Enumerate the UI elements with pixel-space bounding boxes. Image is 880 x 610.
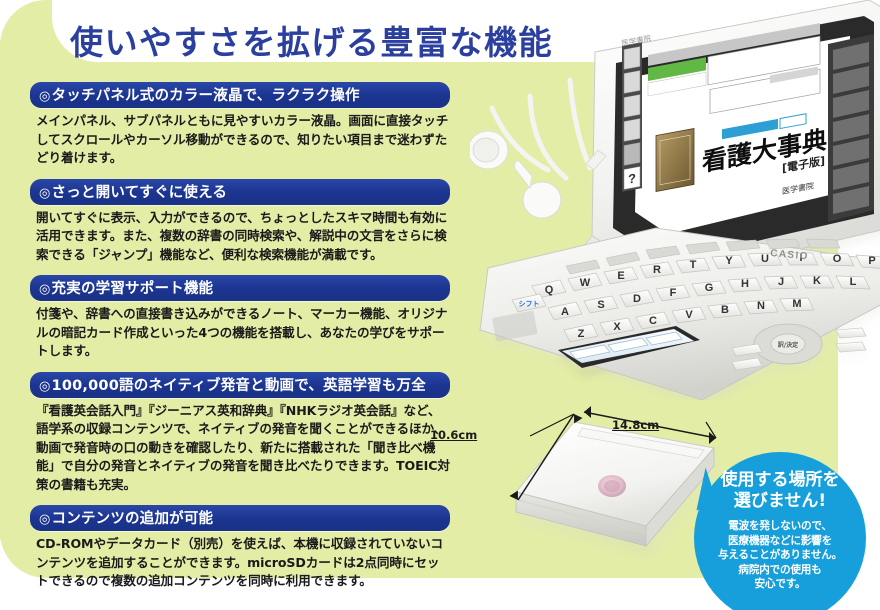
feature-heading-text: タッチパネル式のカラー液晶で、ラクラク操作 bbox=[52, 88, 360, 104]
feature-heading-text: 100,000語のネイティブ発音と動画で、英語学習も万全 bbox=[52, 378, 426, 394]
balloon-body: 電波を発しないので、 医療機器などに影響を 与えることがありません。 病院内での… bbox=[694, 519, 866, 591]
bullet-icon: ◎ bbox=[39, 282, 51, 297]
feature-heading-text: さっと開いてすぐに使える bbox=[52, 185, 228, 201]
feature-body: メインパネル、サブパネルともに見やすいカラー液晶。画面に直接タッチしてスクロール… bbox=[36, 112, 450, 168]
balloon-title: 使用する場所を 選びません! bbox=[694, 470, 866, 511]
dimension-label-depth: 10.6cm bbox=[430, 428, 477, 442]
feature-heading: ◎充実の学習サポート機能 bbox=[30, 275, 450, 301]
page-title: 使いやすさを拡げる豊富な機能 bbox=[70, 16, 553, 64]
feature-item: ◎コンテンツの追加が可能 CD-ROMやデータカード（別売）を使えば、本機に収録… bbox=[30, 505, 450, 591]
feature-body: CD-ROMやデータカード（別売）を使えば、本機に収録されていないコンテンツを追… bbox=[36, 535, 450, 591]
balloon-title-line1: 使用する場所を bbox=[694, 470, 866, 491]
feature-heading-text: 充実の学習サポート機能 bbox=[52, 281, 214, 297]
svg-text:L: L bbox=[850, 276, 857, 288]
feature-item: ◎さっと開いてすぐに使える 開いてすぐに表示、入力ができるので、ちょっとしたスキ… bbox=[30, 179, 450, 265]
balloon-body-line2: 医療機器などに影響を bbox=[694, 534, 866, 548]
bullet-icon: ◎ bbox=[39, 186, 51, 201]
balloon-callout: 使用する場所を 選びません! 電波を発しないので、 医療機器などに影響を 与える… bbox=[694, 452, 866, 610]
bullet-icon: ◎ bbox=[39, 89, 51, 104]
feature-heading: ◎タッチパネル式のカラー液晶で、ラクラク操作 bbox=[30, 82, 450, 108]
balloon-body-line5: 安心です。 bbox=[694, 577, 866, 591]
feature-heading-text: コンテンツの追加が可能 bbox=[52, 511, 214, 527]
feature-heading: ◎コンテンツの追加が可能 bbox=[30, 505, 450, 531]
svg-text:P: P bbox=[868, 255, 875, 267]
feature-item: ◎充実の学習サポート機能 付箋や、辞書への直接書き込みができるノート、マーカー機… bbox=[30, 275, 450, 361]
feature-heading: ◎さっと開いてすぐに使える bbox=[30, 179, 450, 205]
balloon-body-line1: 電波を発しないので、 bbox=[694, 519, 866, 533]
balloon-body-line3: 与えることがありません。 bbox=[694, 548, 866, 562]
feature-item: ◎100,000語のネイティブ発音と動画で、英語学習も万全 『看護英会話入門』『… bbox=[30, 372, 450, 495]
balloon-title-line2: 選びません! bbox=[694, 491, 866, 512]
feature-body: 開いてすぐに表示、入力ができるので、ちょっとしたスキマ時間も有効に活用できます。… bbox=[36, 209, 450, 265]
bullet-icon: ◎ bbox=[39, 512, 51, 527]
feature-list: ◎タッチパネル式のカラー液晶で、ラクラク操作 メインパネル、サブパネルともに見や… bbox=[30, 82, 450, 602]
bullet-icon: ◎ bbox=[39, 379, 51, 394]
feature-item: ◎タッチパネル式のカラー液晶で、ラクラク操作 メインパネル、サブパネルともに見や… bbox=[30, 82, 450, 168]
dimension-label-width: 14.8cm bbox=[612, 418, 659, 432]
balloon-body-line4: 病院内での使用も bbox=[694, 563, 866, 577]
feature-body: 付箋や、辞書への直接書き込みができるノート、マーカー機能、オリジナルの暗記カード… bbox=[36, 305, 450, 361]
advertisement-page: 使いやすさを拡げる豊富な機能 bbox=[0, 0, 880, 610]
feature-heading: ◎100,000語のネイティブ発音と動画で、英語学習も万全 bbox=[30, 372, 450, 398]
feature-body: 『看護英会話入門』『ジーニアス英和辞典』『NHKラジオ英会話』など、語学系の収録… bbox=[36, 402, 450, 495]
